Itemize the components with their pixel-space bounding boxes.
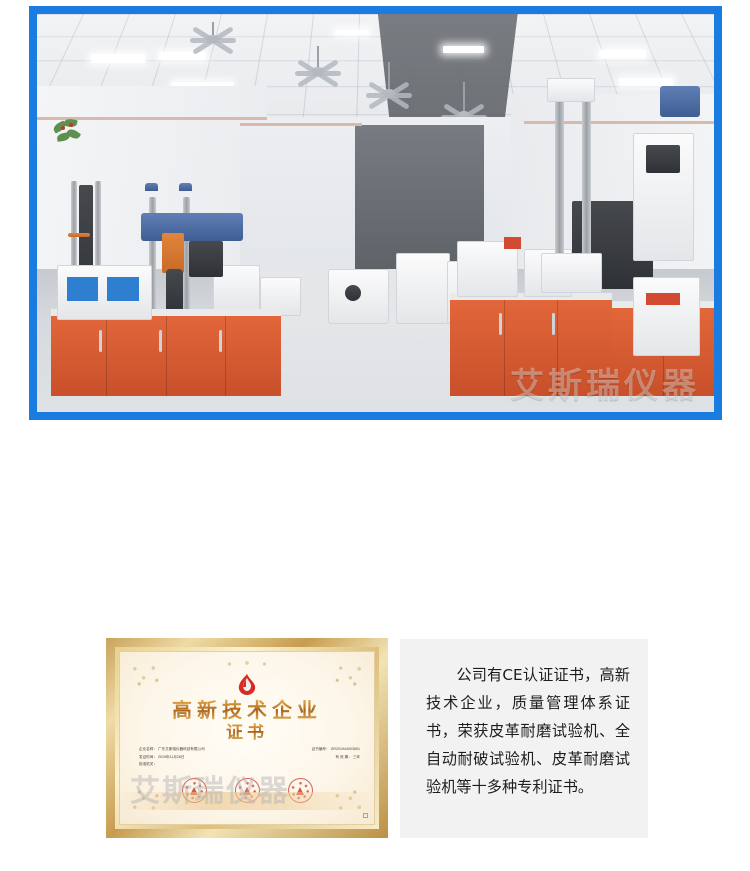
instrument-screen [107,277,138,301]
instrument-panel [660,86,701,118]
center-apparatus [396,253,450,325]
description-text: 公司有CE认证证书，高新技术企业，质量管理体系证书，荣获皮革耐磨试验机、全自动耐… [426,661,630,801]
lab-bench-left [51,309,281,397]
ceiling-light [91,54,145,63]
ceiling-light [599,50,646,58]
certificate-field-date-value: 2019年11月26日 [158,754,335,762]
press-body [162,233,184,273]
certificate-frame-bevel: 高新技术企业 证书 企业名称： 广东艾斯瑞仪器科技有限公司 证书编号： GR20… [115,647,379,829]
ceiling-light [335,30,369,36]
instrument-screen [646,145,680,173]
certificate-field-validity-value: 三年 [353,754,360,762]
control-indicator [646,293,680,305]
certificate-content: 高新技术企业 证书 企业名称： 广东艾斯瑞仪器科技有限公司 证书编号： GR20… [119,651,375,825]
certificate-field-row: 发证时间： 2019年11月26日 有 效 期： 三年 [139,754,360,762]
instrument-indicator [504,237,521,249]
top-ornament [212,659,282,669]
certificate-promo-page: 艾斯瑞仪器 专业证书 PROFESSI [0,0,750,871]
potted-plant [51,117,85,163]
ceiling-light [443,46,484,53]
press-crosshead [141,213,243,241]
lab-photo-frame: 艾斯瑞仪器 [29,6,722,420]
press-head-cap [179,183,192,191]
center-apparatus-wheel [345,285,361,301]
section-heading: 专业证书 PROFESSIONAL CERTIFICATE PROFESSION… [0,470,750,610]
lab-scene: 艾斯瑞仪器 [37,14,714,412]
ceiling-light [619,78,673,86]
corner-ornament [324,658,368,694]
corner-ornament [126,658,170,694]
bench-instrument [457,241,518,297]
tall-tester-column [555,94,564,261]
certificate-field-validity: 有 效 期： [335,754,351,762]
description-panel: 公司有CE认证证书，高新技术企业，质量管理体系证书，荣获皮革耐磨试验机、全自动耐… [400,639,648,838]
control-unit [633,277,701,357]
test-machine-accent [68,233,90,237]
wall-trim [524,121,714,124]
press-head-cap [145,183,158,191]
certificate-field-company-value: 广东艾斯瑞仪器科技有限公司 [158,746,312,754]
certificate-watermark: 艾斯瑞仪器 [130,766,290,810]
instrument-screen [67,277,98,301]
instrument-screen [189,241,223,277]
certificate-field-number-value: GR201944003651 [331,746,360,754]
tall-tester-head [547,78,594,102]
certificate-title-line2: 证书 [120,718,374,743]
certificate-corner-mark [363,813,368,818]
tall-tester-base [541,253,602,293]
wall-trim [240,123,362,126]
certificate-field-number: 证书编号： [312,746,330,754]
lab-photo: 艾斯瑞仪器 [37,14,714,412]
tall-tester-column [582,94,591,261]
certificate-field-date: 发证时间： [139,754,157,762]
certificate-field-company: 企业名称： [139,746,157,754]
photo-watermark: 艾斯瑞仪器 [510,358,700,407]
certificate-image: 高新技术企业 证书 企业名称： 广东艾斯瑞仪器科技有限公司 证书编号： GR20… [106,638,388,838]
certificate-field-row: 企业名称： 广东艾斯瑞仪器科技有限公司 证书编号： GR201944003651 [139,746,360,754]
ceiling-light [159,52,206,60]
